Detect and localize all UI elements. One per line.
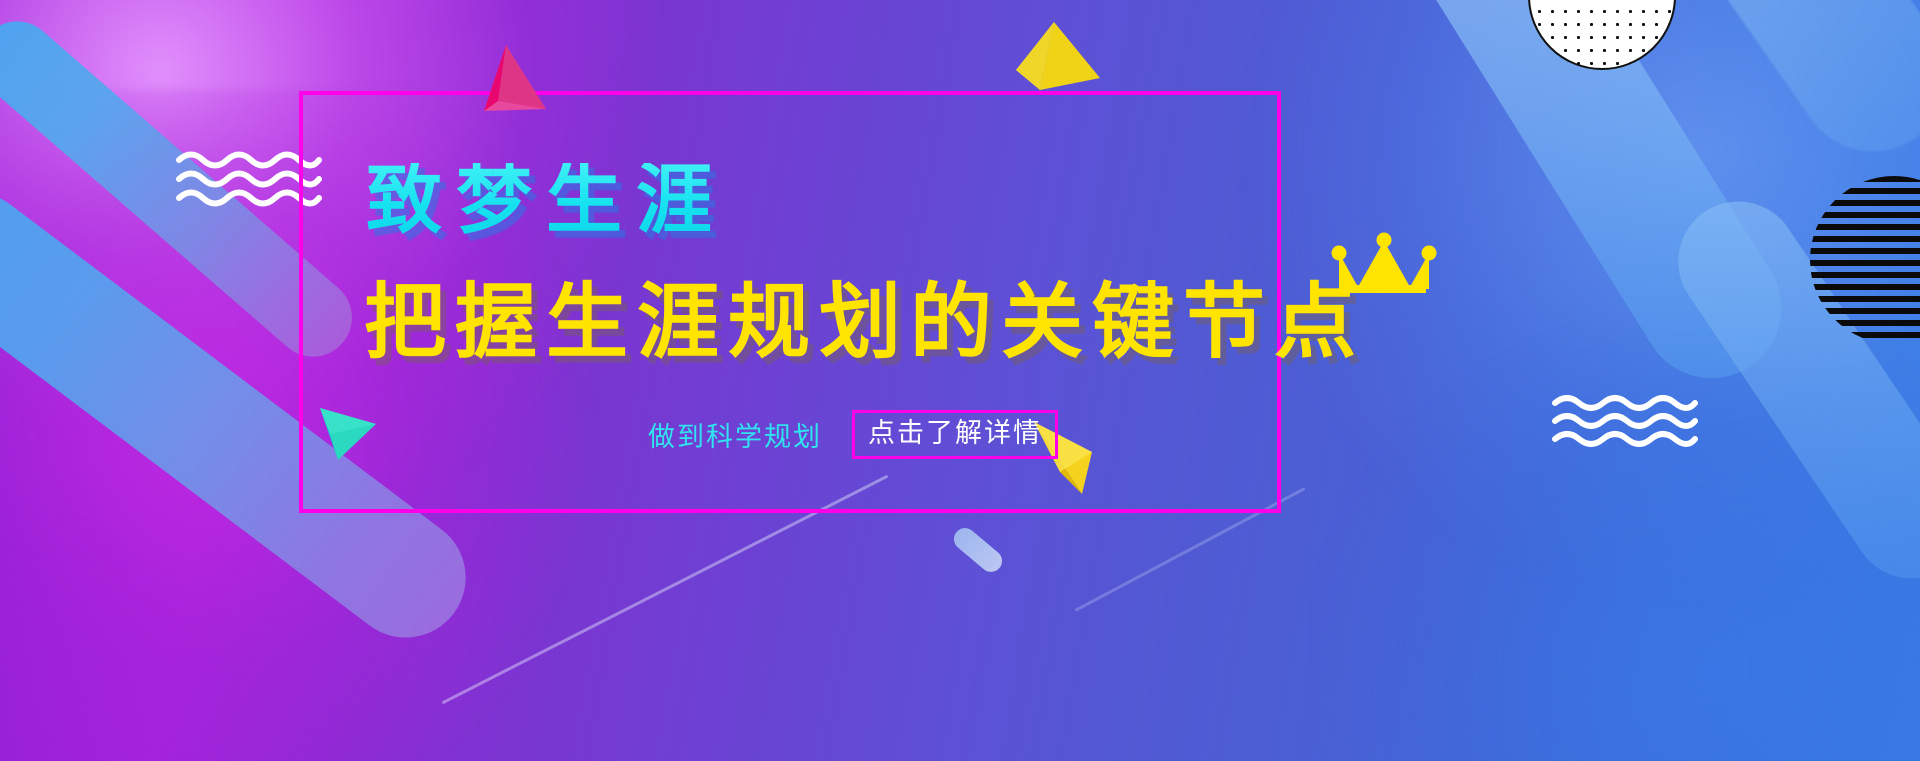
promo-banner: 致梦生涯 致梦生涯 把握生涯规划的关键节点 把握生涯规划的关键节点 做到科学规划…: [0, 0, 1920, 761]
headline-primary: 致梦生涯: [366, 163, 726, 239]
pink-triangle-icon: [478, 43, 550, 113]
teal-triangle-icon: [318, 404, 380, 462]
headline-secondary: 把握生涯规划的关键节点: [364, 282, 1365, 364]
subtitle-text: 做到科学规划: [648, 415, 822, 454]
subtitle-cta-row: 做到科学规划 点击了解详情: [648, 410, 1058, 459]
cta-button[interactable]: 点击了解详情: [852, 410, 1058, 459]
wavy-lines-icon: [1552, 392, 1698, 450]
yellow-triangle-icon: [1010, 20, 1100, 90]
